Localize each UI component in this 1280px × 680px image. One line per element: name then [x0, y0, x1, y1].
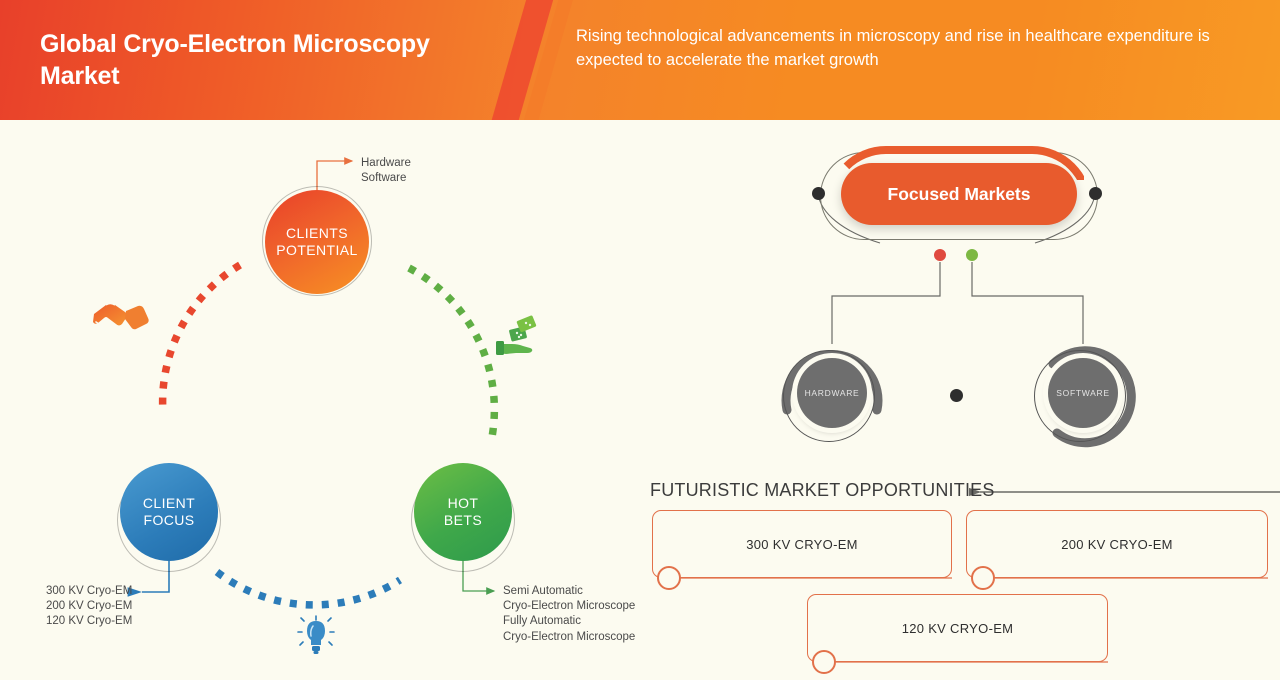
node-client-focus-label: CLIENT FOCUS: [143, 495, 195, 529]
callout-clients-potential: Hardware Software: [361, 156, 411, 186]
hardware-branch-dot: [934, 249, 946, 261]
focused-markets-dot-right: [1089, 187, 1102, 200]
handshake-icon: [93, 304, 149, 334]
opportunity-box-2[interactable]: 200 KV CRYO-EM: [966, 510, 1268, 578]
node-hot-bets-label: HOT BETS: [444, 495, 482, 529]
callout-hot-bets: Semi Automatic Cryo-Electron Microscope …: [503, 584, 635, 645]
opportunity-label-1: 300 KV CRYO-EM: [746, 537, 858, 552]
page-header: Global Cryo-Electron Microscopy Market R…: [0, 0, 1280, 120]
opportunity-label-2: 200 KV CRYO-EM: [1061, 537, 1173, 552]
software-gauge[interactable]: SOFTWARE: [1034, 344, 1132, 442]
node-client-focus[interactable]: CLIENT FOCUS: [120, 463, 218, 561]
opportunity-marker-2: [971, 566, 995, 590]
node-clients-potential-label: CLIENTS POTENTIAL: [276, 225, 357, 259]
callout-client-focus: 300 KV Cryo-EM 200 KV Cryo-EM 120 KV Cry…: [46, 584, 132, 630]
software-branch-dot: [966, 249, 978, 261]
lightbulb-icon: [298, 616, 334, 654]
opportunity-marker-3: [812, 650, 836, 674]
page-title: Global Cryo-Electron Microscopy Market: [40, 28, 510, 92]
futuristic-opportunities-title: FUTURISTIC MARKET OPPORTUNITIES: [650, 480, 995, 501]
node-clients-potential[interactable]: CLIENTS POTENTIAL: [265, 190, 369, 294]
software-gauge-label: SOFTWARE: [1056, 388, 1109, 398]
hardware-gauge-label: HARDWARE: [805, 388, 860, 398]
focused-markets-pill[interactable]: Focused Markets: [841, 163, 1077, 225]
hand-money-icon: [496, 315, 537, 355]
opportunity-box-3[interactable]: 120 KV CRYO-EM: [807, 594, 1108, 662]
opportunity-box-1[interactable]: 300 KV CRYO-EM: [652, 510, 952, 578]
hardware-gauge[interactable]: HARDWARE: [783, 344, 881, 442]
opportunity-marker-1: [657, 566, 681, 590]
infographic-root: Global Cryo-Electron Microscopy Market R…: [0, 0, 1280, 680]
focused-markets-label: Focused Markets: [888, 184, 1031, 205]
focused-markets-dot-left: [812, 187, 825, 200]
hardware-gauge-core: HARDWARE: [797, 358, 867, 428]
opportunity-label-3: 120 KV CRYO-EM: [902, 621, 1014, 636]
software-gauge-core: SOFTWARE: [1048, 358, 1118, 428]
center-divider-dot: [950, 389, 963, 402]
node-hot-bets[interactable]: HOT BETS: [414, 463, 512, 561]
page-subtitle: Rising technological advancements in mic…: [576, 24, 1236, 72]
